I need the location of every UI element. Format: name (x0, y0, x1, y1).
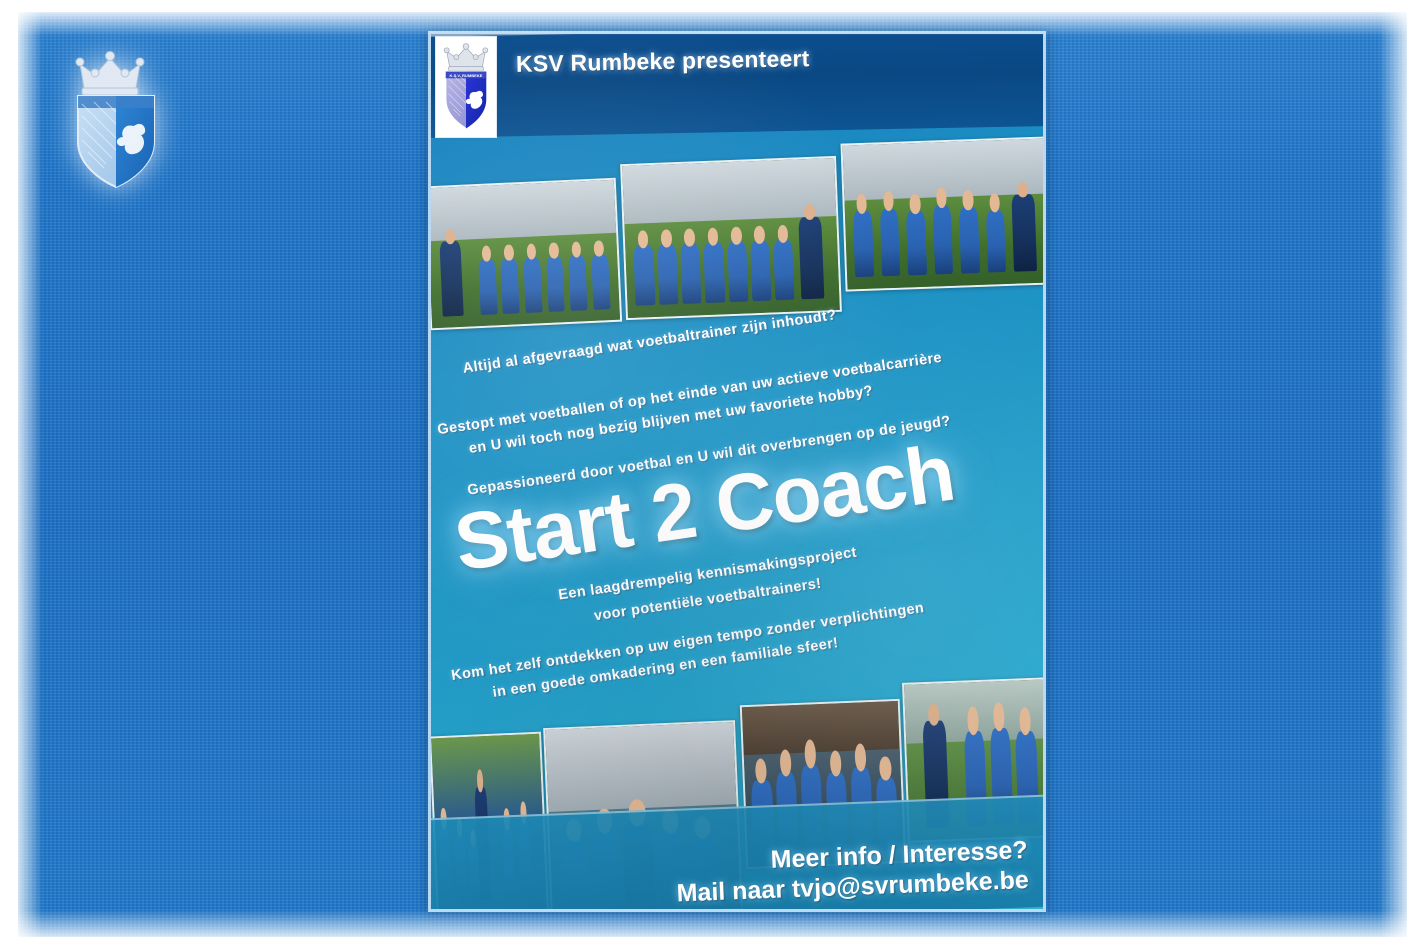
svg-text:K.S.V. RUMBEKE: K.S.V. RUMBEKE (450, 73, 483, 78)
poster-presenter-title: KSV Rumbeke presenteert (516, 45, 810, 78)
screenshot-canvas: K.S.V. RUMBEKE KSV Rumbeke presenteert (0, 0, 1425, 950)
team-celebrating-photo (428, 178, 622, 331)
ksv-rumbeke-crest-watermark-icon (62, 44, 170, 192)
players-huddle-photo (840, 136, 1046, 291)
team-group-on-pitch-photo (620, 156, 842, 320)
ksv-rumbeke-crest-icon: K.S.V. RUMBEKE (435, 36, 497, 138)
start-2-coach-poster: K.S.V. RUMBEKE KSV Rumbeke presenteert (428, 31, 1046, 912)
